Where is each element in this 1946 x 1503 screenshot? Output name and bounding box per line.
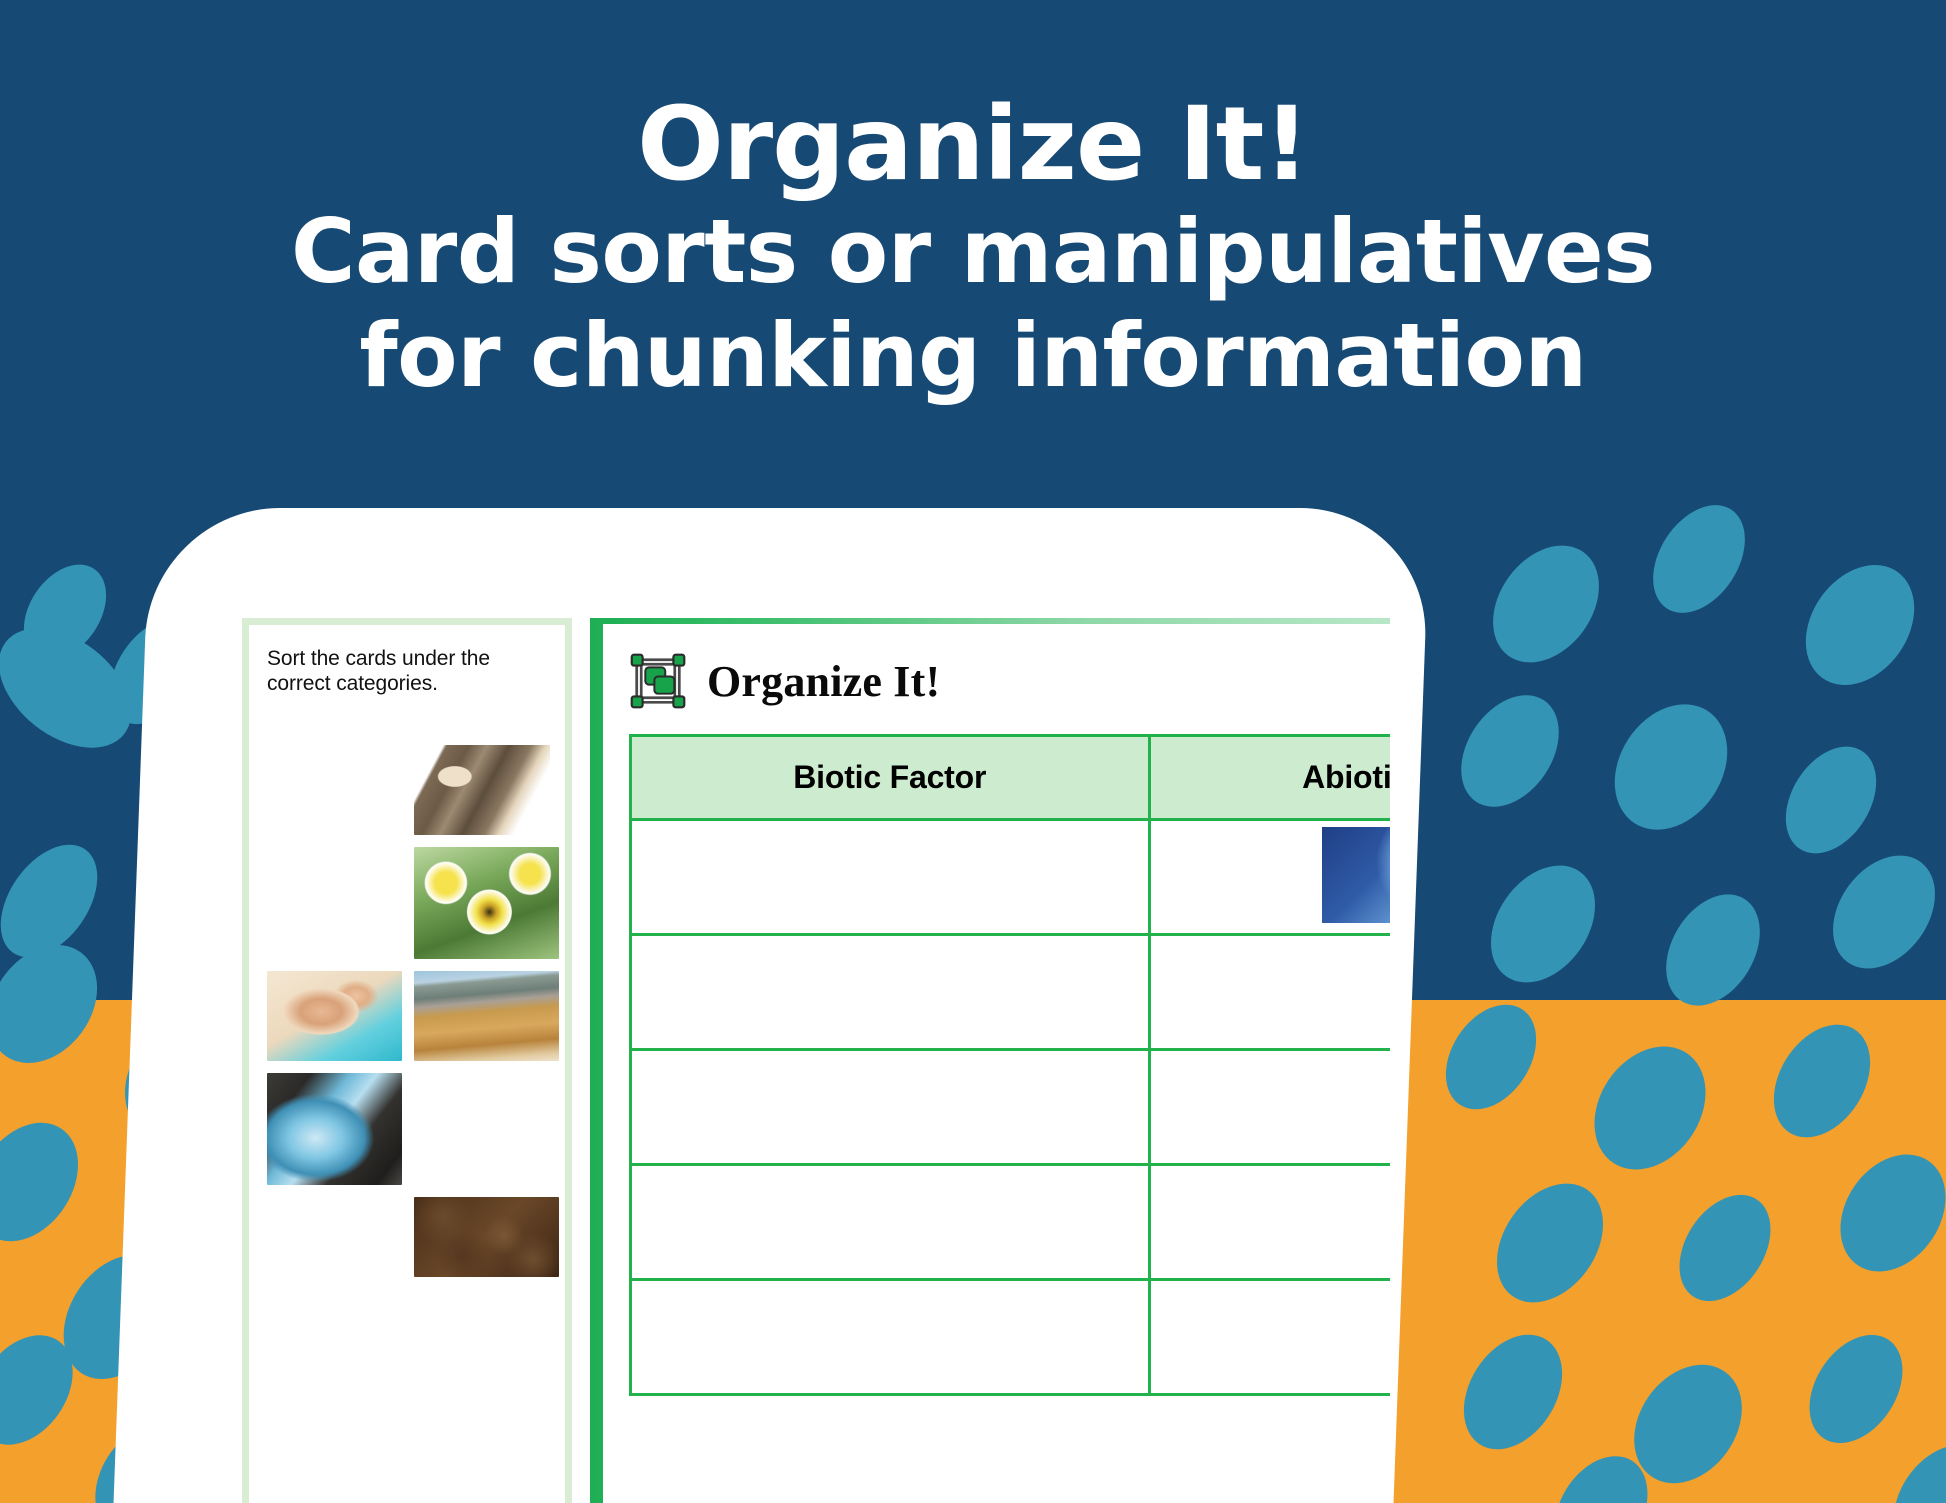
confetti-ellipse xyxy=(1767,730,1895,870)
confetti-ellipse xyxy=(1592,683,1751,851)
logs-card[interactable] xyxy=(414,745,550,835)
confetti-ellipse xyxy=(1783,544,1936,706)
confetti-ellipse xyxy=(1441,677,1579,825)
headline-line-1: Organize It! xyxy=(0,90,1946,200)
sort-cards-grid xyxy=(267,745,559,1277)
confetti-ellipse xyxy=(1634,488,1764,629)
confetti-ellipse xyxy=(7,549,123,674)
tropical-fish-card[interactable] xyxy=(414,1073,559,1185)
headline-line-2: Card sorts or manipulatives for chunking… xyxy=(0,200,1946,408)
mushroom-image xyxy=(855,940,925,1040)
column-header-abiotic: Abiotic Factor xyxy=(1149,736,1390,820)
bee-on-daisy-card[interactable] xyxy=(414,847,559,959)
table-row xyxy=(631,820,1391,935)
table-cell-biotic[interactable] xyxy=(631,1280,1150,1395)
seashells-card[interactable] xyxy=(267,971,402,1061)
worksheet-header: Organize It! xyxy=(629,652,1390,710)
slide-canvas: Organize It! Card sorts or manipulatives… xyxy=(0,0,1946,1503)
table-row xyxy=(631,1280,1391,1395)
table-cell-abiotic[interactable] xyxy=(1149,1280,1390,1395)
soil-card[interactable] xyxy=(414,1197,559,1277)
worksheet-right-page: Organize It! Biotic Factor Abiotic Facto… xyxy=(590,618,1390,1503)
confetti-ellipse xyxy=(0,604,154,772)
column-header-biotic: Biotic Factor xyxy=(631,736,1150,820)
table-cell-abiotic[interactable] xyxy=(1149,1050,1390,1165)
table-cell-abiotic[interactable] xyxy=(1149,820,1390,935)
strawberries-image xyxy=(815,825,965,925)
sort-table-body xyxy=(631,820,1391,1395)
table-cell-abiotic[interactable] xyxy=(1149,935,1390,1050)
worksheet-left-page: Sort the cards under the correct categor… xyxy=(242,618,572,1503)
table-row xyxy=(631,935,1391,1050)
table-row xyxy=(631,1165,1391,1280)
table-cell-biotic[interactable] xyxy=(631,820,1150,935)
confetti-ellipse xyxy=(1812,836,1946,988)
table-cell-biotic[interactable] xyxy=(631,935,1150,1050)
page-title: Organize It! Card sorts or manipulatives… xyxy=(0,90,1946,408)
confetti-ellipse xyxy=(1471,525,1621,683)
sort-instructions: Sort the cards under the correct categor… xyxy=(267,647,547,697)
table-cell-biotic[interactable] xyxy=(631,1165,1150,1280)
worksheet-title: Organize It! xyxy=(707,656,940,707)
sun-in-blue-sky-image xyxy=(1322,827,1390,923)
table-cell-biotic[interactable] xyxy=(631,1050,1150,1165)
table-cell-abiotic[interactable] xyxy=(1149,1165,1390,1280)
table-row xyxy=(631,1050,1391,1165)
confetti-ellipse xyxy=(0,827,117,975)
sort-table: Biotic Factor Abiotic Factor xyxy=(629,734,1390,1396)
sand-rocks-card[interactable] xyxy=(414,971,559,1061)
organize-group-icon xyxy=(629,652,687,710)
confetti-ellipse xyxy=(1469,846,1616,1002)
worksheet-preview-card: Sort the cards under the correct categor… xyxy=(113,508,1430,1503)
waterfall-card[interactable] xyxy=(267,1073,402,1185)
table-header-row: Biotic Factor Abiotic Factor xyxy=(631,736,1391,820)
